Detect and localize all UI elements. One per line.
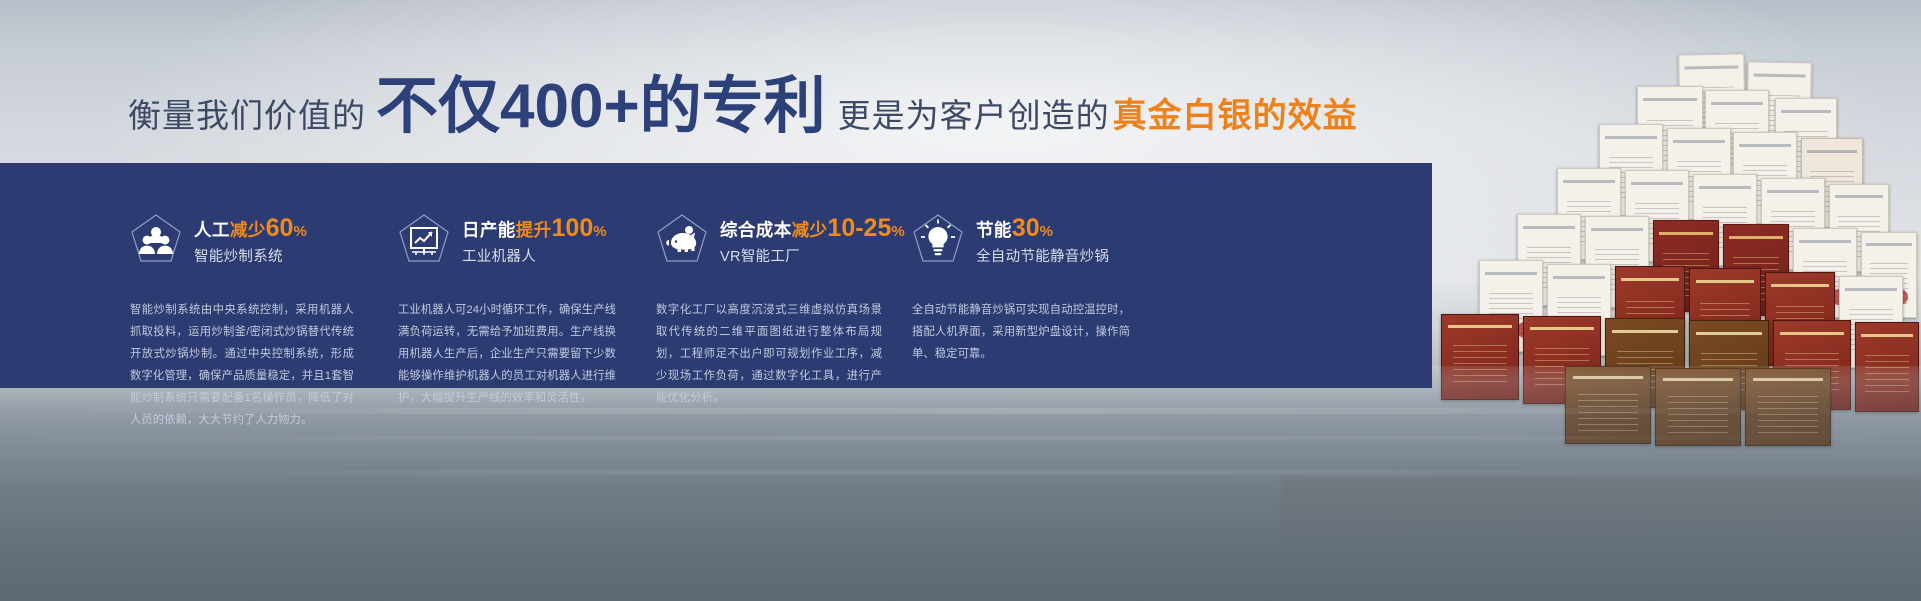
certificate-item bbox=[1517, 214, 1581, 306]
award-plaque bbox=[1689, 320, 1769, 410]
certificate-item bbox=[1829, 184, 1889, 272]
feature-body: 智能炒制系统由中央系统控制，采用机器人抓取投料，运用炒制釜/密闭式炒锅替代传统开… bbox=[130, 299, 354, 431]
feature-subtitle: VR智能工厂 bbox=[720, 250, 905, 265]
headline-middle: 更是为客户创造的 bbox=[838, 89, 1110, 137]
feature-title-number: 10-25 bbox=[827, 214, 891, 242]
feature-body: 全自动节能静音炒锅可实现自动控温控时，搭配人机界面，采用新型炉盘设计，操作简单、… bbox=[912, 299, 1130, 365]
feature-subtitle: 智能炒制系统 bbox=[194, 250, 307, 265]
certificate-item bbox=[1557, 168, 1621, 260]
lightbulb-icon bbox=[912, 213, 964, 267]
feature-subtitle: 工业机器人 bbox=[462, 250, 607, 265]
feature-title-prefix: 日产能 bbox=[462, 220, 516, 240]
chart-board-icon bbox=[398, 213, 450, 267]
feature-title-percent: % bbox=[593, 223, 607, 240]
feature-title: 日产能提升100% bbox=[462, 216, 607, 241]
certificate-item bbox=[1839, 276, 1903, 368]
feature-title-highlight: 减少 bbox=[792, 220, 828, 240]
certificate-item bbox=[1547, 264, 1611, 356]
feature-body: 工业机器人可24小时循环工作，确保生产线满负荷运转，无需给予加班费用。生产线换用… bbox=[398, 299, 616, 409]
feature-list: 人工减少60% 智能炒制系统 智能炒制系统由中央系统控制，采用机器人抓取投料，运… bbox=[0, 163, 1432, 388]
feature-item-cost: 综合成本减少10-25% VR智能工厂 数字化工厂以高度沉浸式三维虚拟仿真场景取… bbox=[656, 163, 912, 388]
certificate-item bbox=[1637, 86, 1703, 180]
feature-title: 综合成本减少10-25% bbox=[720, 216, 905, 241]
certificate-item bbox=[1585, 216, 1649, 308]
award-plaque bbox=[1523, 316, 1601, 404]
headline-prefix: 衡量我们价值的 bbox=[128, 89, 366, 137]
award-plaque bbox=[1855, 322, 1919, 412]
feature-title-percent: % bbox=[891, 223, 905, 240]
headline: 衡量我们价值的 不仅400+的专利 更是为客户创造的 真金白银的效益 bbox=[128, 76, 1358, 138]
feature-body: 数字化工厂以高度沉浸式三维虚拟仿真场景取代传统的二维平面图纸进行整体布局规划，工… bbox=[656, 299, 882, 409]
certificate-item bbox=[1733, 132, 1797, 224]
people-group-icon bbox=[130, 213, 182, 267]
award-plaque bbox=[1655, 368, 1741, 446]
award-plaque bbox=[1615, 266, 1685, 362]
feature-title-number: 100 bbox=[552, 214, 594, 242]
feature-title-percent: % bbox=[293, 223, 307, 240]
headline-emphasis: 不仅400+的专利 bbox=[376, 76, 826, 138]
certificate-item bbox=[1625, 170, 1689, 262]
award-plaque bbox=[1653, 220, 1719, 312]
certificate-item bbox=[1761, 178, 1825, 270]
feature-item-labor: 人工减少60% 智能炒制系统 智能炒制系统由中央系统控制，采用机器人抓取投料，运… bbox=[130, 163, 398, 388]
award-plaque bbox=[1689, 268, 1761, 364]
certificate-item bbox=[1861, 232, 1917, 318]
sea-streak bbox=[0, 470, 1921, 475]
certificate-item bbox=[1479, 260, 1543, 352]
banner-stage: 衡量我们价值的 不仅400+的专利 更是为客户创造的 真金白银的效益 bbox=[0, 0, 1921, 601]
award-plaque bbox=[1773, 320, 1851, 410]
award-plaque bbox=[1765, 272, 1835, 366]
headline-accent: 真金白银的效益 bbox=[1113, 88, 1358, 137]
certificate-item bbox=[1775, 98, 1837, 188]
certificate-item bbox=[1793, 228, 1857, 318]
feature-title-highlight: 减少 bbox=[230, 220, 266, 240]
certificate-item bbox=[1678, 53, 1746, 146]
feature-title-number: 30 bbox=[1012, 214, 1040, 242]
feature-title: 节能30% bbox=[976, 216, 1109, 241]
feature-header: 综合成本减少10-25% VR智能工厂 bbox=[656, 215, 912, 271]
award-plaque bbox=[1745, 368, 1831, 446]
feature-text: 日产能提升100% 工业机器人 bbox=[462, 215, 607, 265]
piggy-bank-icon bbox=[656, 213, 708, 267]
feature-subtitle: 全自动节能静音炒锅 bbox=[976, 250, 1109, 265]
certificate-reflection bbox=[1281, 478, 1921, 588]
feature-title-highlight: 提升 bbox=[516, 220, 552, 240]
certificate-item bbox=[1746, 61, 1812, 152]
feature-header: 日产能提升100% 工业机器人 bbox=[398, 215, 656, 271]
feature-text: 综合成本减少10-25% VR智能工厂 bbox=[720, 215, 905, 265]
feature-text: 人工减少60% 智能炒制系统 bbox=[194, 215, 307, 265]
award-plaque bbox=[1605, 318, 1685, 408]
feature-title: 人工减少60% bbox=[194, 216, 307, 241]
feature-title-prefix: 综合成本 bbox=[720, 220, 792, 240]
feature-title-number: 60 bbox=[266, 214, 294, 242]
certificate-item bbox=[1599, 124, 1663, 216]
certificate-item bbox=[1801, 138, 1863, 228]
sea-streak bbox=[0, 436, 1921, 440]
certificate-item bbox=[1667, 128, 1731, 220]
feature-title-percent: % bbox=[1040, 223, 1054, 240]
feature-header: 人工减少60% 智能炒制系统 bbox=[130, 215, 398, 271]
certificate-item bbox=[1705, 90, 1769, 182]
award-plaque bbox=[1441, 314, 1519, 400]
award-plaque bbox=[1565, 366, 1651, 444]
feature-header: 节能30% 全自动节能静音炒锅 bbox=[912, 215, 1162, 271]
certificate-item bbox=[1693, 174, 1757, 266]
feature-title-prefix: 人工 bbox=[194, 220, 230, 240]
feature-item-capacity: 日产能提升100% 工业机器人 工业机器人可24小时循环工作，确保生产线满负荷运… bbox=[398, 163, 656, 388]
feature-text: 节能30% 全自动节能静音炒锅 bbox=[976, 215, 1109, 265]
feature-title-prefix: 节能 bbox=[976, 220, 1012, 240]
feature-item-energy: 节能30% 全自动节能静音炒锅 全自动节能静音炒锅可实现自动控温控时，搭配人机界… bbox=[912, 163, 1162, 388]
award-plaque bbox=[1723, 224, 1789, 316]
